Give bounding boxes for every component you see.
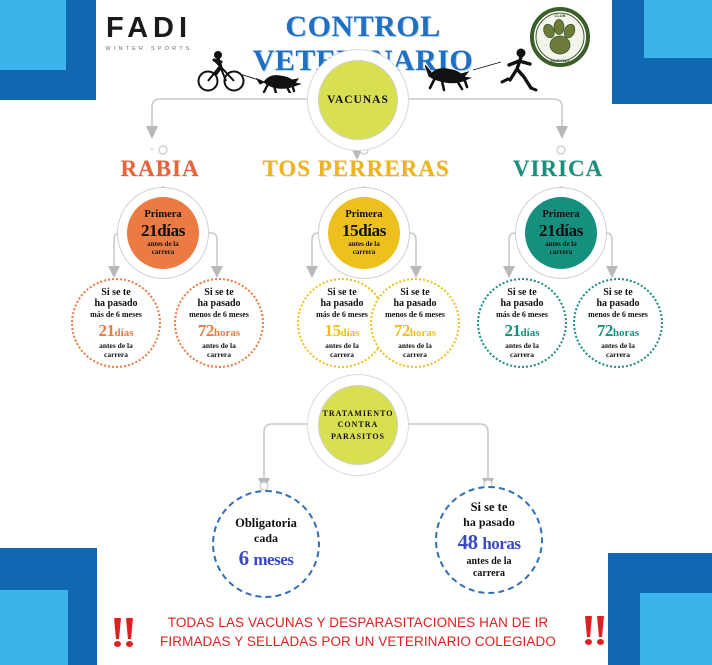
rabia-detail1-value: 21 (99, 321, 115, 340)
first-dose-tos-value: 15días (342, 221, 386, 240)
node48-line2: ha pasado (463, 515, 515, 529)
virica-detail1-value: 21 (505, 321, 521, 340)
obligatoria-line2: cada (254, 531, 278, 545)
tos-detail2-line1: Si se te (400, 287, 429, 299)
fadi-logo: FADI WINTER SPORTS (100, 14, 198, 52)
node-rabia-detail-less-than-6-months[interactable]: Si se te ha pasado menos de 6 meses 72ho… (174, 278, 264, 368)
obligatoria-value: 6 (239, 546, 249, 570)
canicross-silhouette-icon (425, 46, 545, 94)
fadi-logo-tagline: WINTER SPORTS (100, 46, 198, 52)
obligatoria-value-row: 6 meses (239, 546, 294, 571)
tos-detail2-value-row: 72horas (394, 321, 436, 341)
rabia-detail2-line5: carrera (207, 351, 231, 360)
virica-detail1-line5: carrera (510, 351, 534, 360)
tos-detail1-line2: ha pasado (320, 298, 363, 310)
rabia-detail2-value-row: 72horas (198, 321, 240, 341)
first-dose-virica-value: 21días (539, 221, 583, 240)
node-obligatoria-cada-6-meses[interactable]: Obligatoria cada 6 meses (212, 490, 320, 598)
tos-detail1-line1: Si se te (327, 287, 356, 299)
node-tos-detail-less-than-6-months[interactable]: Si se te ha pasado menos de 6 meses 72ho… (370, 278, 460, 368)
node48-unit: horas (482, 534, 520, 553)
virica-detail1-line3: más de 6 meses (496, 310, 548, 319)
first-dose-tos-line1: Primera (345, 209, 382, 221)
virica-detail2-line5: carrera (606, 351, 630, 360)
footer-warning-text: TODAS LAS VACUNAS Y DESPARASITACIONES HA… (154, 614, 562, 651)
svg-text:CLUB: CLUB (554, 13, 565, 18)
virica-detail2-unit: horas (613, 327, 639, 339)
infographic-canvas: FADI WINTER SPORTS CONTROL VETERINARIO C… (0, 0, 712, 665)
node-48-horas-antes[interactable]: Si se te ha pasado 48 horas antes de la … (435, 486, 543, 594)
rabia-detail1-value-row: 21días (99, 321, 134, 341)
virica-detail2-value-row: 72horas (597, 321, 639, 341)
first-dose-virica-line4: carrera (550, 249, 572, 257)
rabia-detail1-unit: días (115, 327, 134, 339)
virica-detail1-line2: ha pasado (500, 298, 543, 310)
node-vacunas[interactable]: VACUNAS (318, 60, 398, 140)
section-title-rabia: RABIA (90, 156, 230, 182)
virica-detail2-line3: menos de 6 meses (588, 310, 648, 319)
tratamiento-line1: TRATAMIENTO (322, 408, 393, 420)
tos-detail1-line5: carrera (330, 351, 354, 360)
tos-detail2-unit: horas (410, 327, 436, 339)
virica-detail2-line2: ha pasado (596, 298, 639, 310)
fadi-logo-wordmark: FADI (100, 14, 198, 43)
virica-detail1-unit: días (521, 327, 540, 339)
first-dose-rabia-line1: Primera (144, 209, 181, 221)
rabia-detail1-line2: ha pasado (94, 298, 137, 310)
tos-detail1-value: 15 (325, 321, 341, 340)
node-first-dose-rabia[interactable]: Primera 21días antes de la carrera (127, 197, 199, 269)
section-title-tos-perreras: TOS PERRERAS (254, 156, 458, 182)
virica-detail1-line1: Si se te (507, 287, 536, 299)
svg-text:MUSHING: MUSHING (551, 58, 570, 63)
rabia-detail1-line1: Si se te (101, 287, 130, 299)
rabia-detail1-line3: más de 6 meses (90, 310, 142, 319)
node-virica-detail-less-than-6-months[interactable]: Si se te ha pasado menos de 6 meses 72ho… (573, 278, 663, 368)
tos-detail2-line5: carrera (403, 351, 427, 360)
footer-line1: TODAS LAS VACUNAS Y DESPARASITACIONES HA… (154, 614, 562, 633)
obligatoria-line1: Obligatoria (235, 516, 297, 531)
first-dose-tos-line4: carrera (353, 249, 375, 257)
footer-line2: FIRMADAS Y SELLADAS POR UN VETERINARIO C… (154, 633, 562, 652)
first-dose-rabia-line4: carrera (152, 249, 174, 257)
first-dose-virica-line1: Primera (542, 209, 579, 221)
exclamation-marks-right-icon (580, 616, 604, 651)
node-first-dose-virica[interactable]: Primera 21días antes de la carrera (525, 197, 597, 269)
node-tratamiento-label: TRATAMIENTO CONTRA PARASITOS (322, 408, 393, 443)
node-vacunas-label: VACUNAS (327, 94, 389, 106)
rabia-detail2-value: 72 (198, 321, 214, 340)
tos-detail1-value-row: 15días (325, 321, 360, 341)
rabia-detail2-line1: Si se te (204, 287, 233, 299)
tos-detail1-unit: días (341, 327, 360, 339)
obligatoria-unit: meses (253, 550, 293, 569)
exclamation-marks-left-icon (114, 618, 138, 653)
rabia-detail2-unit: horas (214, 327, 240, 339)
tratamiento-line2: CONTRA (322, 419, 393, 431)
footer-warning: TODAS LAS VACUNAS Y DESPARASITACIONES HA… (108, 612, 608, 660)
tos-detail2-line2: ha pasado (393, 298, 436, 310)
node-rabia-detail-more-than-6-months[interactable]: Si se te ha pasado más de 6 meses 21días… (71, 278, 161, 368)
section-title-virica: VIRICA (484, 156, 632, 182)
rabia-detail2-line3: menos de 6 meses (189, 310, 249, 319)
tos-detail2-value: 72 (394, 321, 410, 340)
tos-detail2-line3: menos de 6 meses (385, 310, 445, 319)
first-dose-rabia-value: 21días (141, 221, 185, 240)
virica-detail1-value-row: 21días (505, 321, 540, 341)
virica-detail2-line1: Si se te (603, 287, 632, 299)
rabia-detail2-line2: ha pasado (197, 298, 240, 310)
node48-line4: carrera (473, 568, 505, 580)
tratamiento-line3: PARASITOS (322, 431, 393, 443)
node48-line1: Si se te (471, 500, 508, 515)
bikejoring-silhouette-icon (190, 48, 315, 93)
node48-value: 48 (458, 530, 478, 554)
node-first-dose-tos-perreras[interactable]: Primera 15días antes de la carrera (328, 197, 400, 269)
tos-detail1-line3: más de 6 meses (316, 310, 368, 319)
node-tratamiento-contra-parasitos[interactable]: TRATAMIENTO CONTRA PARASITOS (318, 385, 398, 465)
rabia-detail1-line5: carrera (104, 351, 128, 360)
node-virica-detail-more-than-6-months[interactable]: Si se te ha pasado más de 6 meses 21días… (477, 278, 567, 368)
node48-line3: antes de la (467, 556, 512, 568)
virica-detail2-value: 72 (597, 321, 613, 340)
node48-value-row: 48 horas (458, 530, 521, 555)
